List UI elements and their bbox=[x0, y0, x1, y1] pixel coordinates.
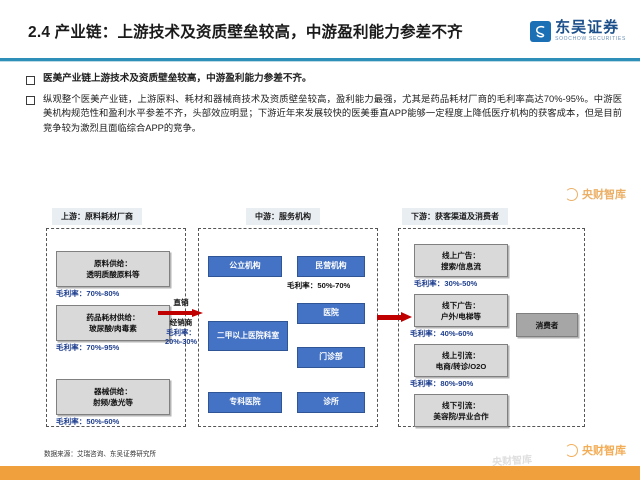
header-divider-thin bbox=[0, 61, 640, 62]
list-item: 纵观整个医美产业链，上游原料、耗材和器械商技术及资质壁垒较高，盈利能力最强，尤其… bbox=[26, 92, 622, 135]
upstream-margin-rate: 毛利率：70%-95% bbox=[56, 342, 119, 353]
box-line-1: 器械供给： bbox=[94, 386, 132, 397]
box-line-2: 射频/激光等 bbox=[93, 397, 133, 408]
red-arrow-to-downstream-icon bbox=[377, 312, 413, 322]
square-bullet-icon bbox=[26, 76, 35, 85]
downstream-margin-rate: 毛利率：40%-60% bbox=[410, 328, 473, 339]
watermark-text: 央财智库 bbox=[582, 442, 626, 458]
box-line-2: 户外/电梯等 bbox=[441, 311, 481, 322]
bullet-text: 纵观整个医美产业链，上游原料、耗材和器械商技术及资质壁垒较高，盈利能力最强，尤其… bbox=[43, 92, 622, 135]
downstream-box: 线上广告： 搜索/信息流 bbox=[414, 244, 508, 277]
upstream-margin-rate: 毛利率：50%-60% bbox=[56, 416, 119, 427]
box-line-1: 线上广告： bbox=[442, 250, 480, 261]
downstream-box: 线下引流： 美容院/异业合作 bbox=[414, 394, 508, 427]
box-line-1: 线上引流： bbox=[442, 350, 480, 361]
watermark-bottom: 央财智库 bbox=[565, 442, 626, 458]
midstream-box-private: 民营机构 bbox=[297, 256, 365, 277]
soochow-logo-icon bbox=[530, 21, 551, 42]
bullet-list: 医美产业链上游技术及资质壁垒较高，中游盈利能力参差不齐。 纵观整个医美产业链，上… bbox=[26, 72, 622, 140]
brand-logo: 东吴证券 SOOCHOW SECURITIES bbox=[530, 20, 626, 42]
box-line-1: 线下引流： bbox=[442, 400, 480, 411]
column-header-upstream: 上游：原料耗材厂商 bbox=[52, 208, 142, 225]
box-line-2: 玻尿酸/肉毒素 bbox=[89, 323, 137, 334]
slide: 2.4 产业链：上游技术及资质壁垒较高，中游盈利能力参差不齐 东吴证券 SOOC… bbox=[0, 0, 640, 480]
box-line-2: 电商/转诊/O2O bbox=[436, 361, 487, 372]
list-item: 医美产业链上游技术及资质壁垒较高，中游盈利能力参差不齐。 bbox=[26, 72, 622, 87]
column-header-midstream: 中游：服务机构 bbox=[246, 208, 320, 225]
midstream-box-public: 公立机构 bbox=[208, 256, 282, 277]
channel-rate-value: 20%-30% bbox=[157, 337, 205, 347]
upstream-box: 药品耗材供给： 玻尿酸/肉毒素 bbox=[56, 305, 170, 341]
box-line-1: 药品耗材供给： bbox=[86, 312, 139, 323]
distribution-channel: 直销 经销商 毛利率： 20%-30% bbox=[157, 298, 205, 347]
midstream-box-hospital: 医院 bbox=[297, 303, 365, 324]
logo-text-en: SOOCHOW SECURITIES bbox=[555, 37, 626, 42]
square-bullet-icon bbox=[26, 96, 35, 105]
downstream-box: 线下广告： 户外/电梯等 bbox=[414, 294, 508, 327]
midstream-box-public-dept: 二甲以上医院科室 bbox=[208, 321, 288, 351]
column-header-downstream: 下游：获客渠道及消费者 bbox=[402, 208, 508, 225]
upstream-box: 器械供给： 射频/激光等 bbox=[56, 379, 170, 415]
downstream-margin-rate: 毛利率：80%-90% bbox=[410, 378, 473, 389]
box-line-2: 美容院/异业合作 bbox=[433, 411, 488, 422]
midstream-box-outpatient: 门诊部 bbox=[297, 347, 365, 368]
downstream-margin-rate: 毛利率：30%-50% bbox=[414, 278, 477, 289]
upstream-box: 原料供给： 透明质酸原料等 bbox=[56, 251, 170, 287]
downstream-box: 线上引流： 电商/转诊/O2O bbox=[414, 344, 508, 377]
midstream-box-specialty: 专科医院 bbox=[208, 392, 282, 413]
channel-label-direct: 直销 bbox=[157, 298, 205, 308]
box-line-1: 线下广告： bbox=[442, 300, 480, 311]
midstream-box-clinic: 诊所 bbox=[297, 392, 365, 413]
logo-text-cn: 东吴证券 bbox=[555, 20, 626, 35]
consumer-box: 消费者 bbox=[516, 313, 578, 337]
upstream-margin-rate: 毛利率：70%-80% bbox=[56, 288, 119, 299]
bullet-text: 医美产业链上游技术及资质壁垒较高，中游盈利能力参差不齐。 bbox=[43, 72, 312, 87]
box-line-2: 透明质酸原料等 bbox=[86, 269, 139, 280]
red-arrow-icon bbox=[158, 309, 204, 317]
box-line-2: 搜索/信息流 bbox=[441, 261, 481, 272]
channel-label-distributor: 经销商 bbox=[157, 318, 205, 328]
midstream-margin-rate: 毛利率：50%-70% bbox=[287, 280, 350, 291]
footer-bar bbox=[0, 466, 640, 480]
box-line-1: 原料供给： bbox=[94, 258, 132, 269]
source-note: 数据来源：艾瑞咨询、东吴证券研究所 bbox=[44, 448, 156, 458]
channel-rate-label: 毛利率： bbox=[157, 328, 205, 338]
page-title: 2.4 产业链：上游技术及资质壁垒较高，中游盈利能力参差不齐 bbox=[28, 20, 463, 42]
watermark-ring-icon bbox=[565, 444, 578, 457]
